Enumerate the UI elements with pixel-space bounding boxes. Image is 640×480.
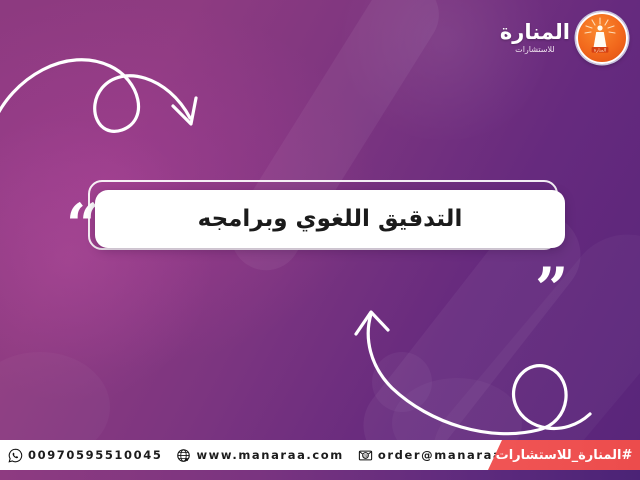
logo-subtitle: للاستشارات [515, 46, 555, 54]
email-icon: @ [358, 448, 373, 463]
contact-website[interactable]: www.manaraa.com [176, 448, 343, 463]
brand-logo: المنارة للاستشارات المنارة [500, 12, 628, 64]
logo-name: المنارة [500, 22, 570, 43]
page-title: التدقيق اللغوي وبرامجه [198, 208, 463, 231]
globe-icon [176, 448, 191, 463]
footer-contact-list: 00970595510045 www.manaraa.com [8, 440, 554, 470]
svg-text:@: @ [363, 453, 368, 459]
hashtag-banner[interactable]: #المنارة_للاستشارات [488, 440, 640, 470]
title-block: “ التدقيق اللغوي وبرامجه ” [60, 168, 580, 272]
logo-wordmark: المنارة للاستشارات [500, 22, 570, 54]
quote-close-icon: ” [535, 272, 568, 307]
contact-phone[interactable]: 00970595510045 [8, 448, 162, 463]
svg-text:المنارة: المنارة [594, 48, 606, 53]
background-blob-1 [372, 352, 432, 412]
poster-canvas: المنارة للاستشارات المنارة [0, 0, 640, 480]
footer-bottom-band [0, 470, 640, 480]
footer-bar: 00970595510045 www.manaraa.com [0, 440, 640, 480]
whatsapp-icon [8, 448, 23, 463]
title-box: التدقيق اللغوي وبرامجه [95, 190, 565, 248]
hashtag-text: #المنارة_للاستشارات [496, 448, 633, 463]
contact-website-text: www.manaraa.com [196, 448, 343, 462]
lighthouse-icon: المنارة [576, 12, 628, 64]
contact-phone-text: 00970595510045 [28, 448, 162, 462]
decor-arrow-top-icon [0, 38, 240, 148]
